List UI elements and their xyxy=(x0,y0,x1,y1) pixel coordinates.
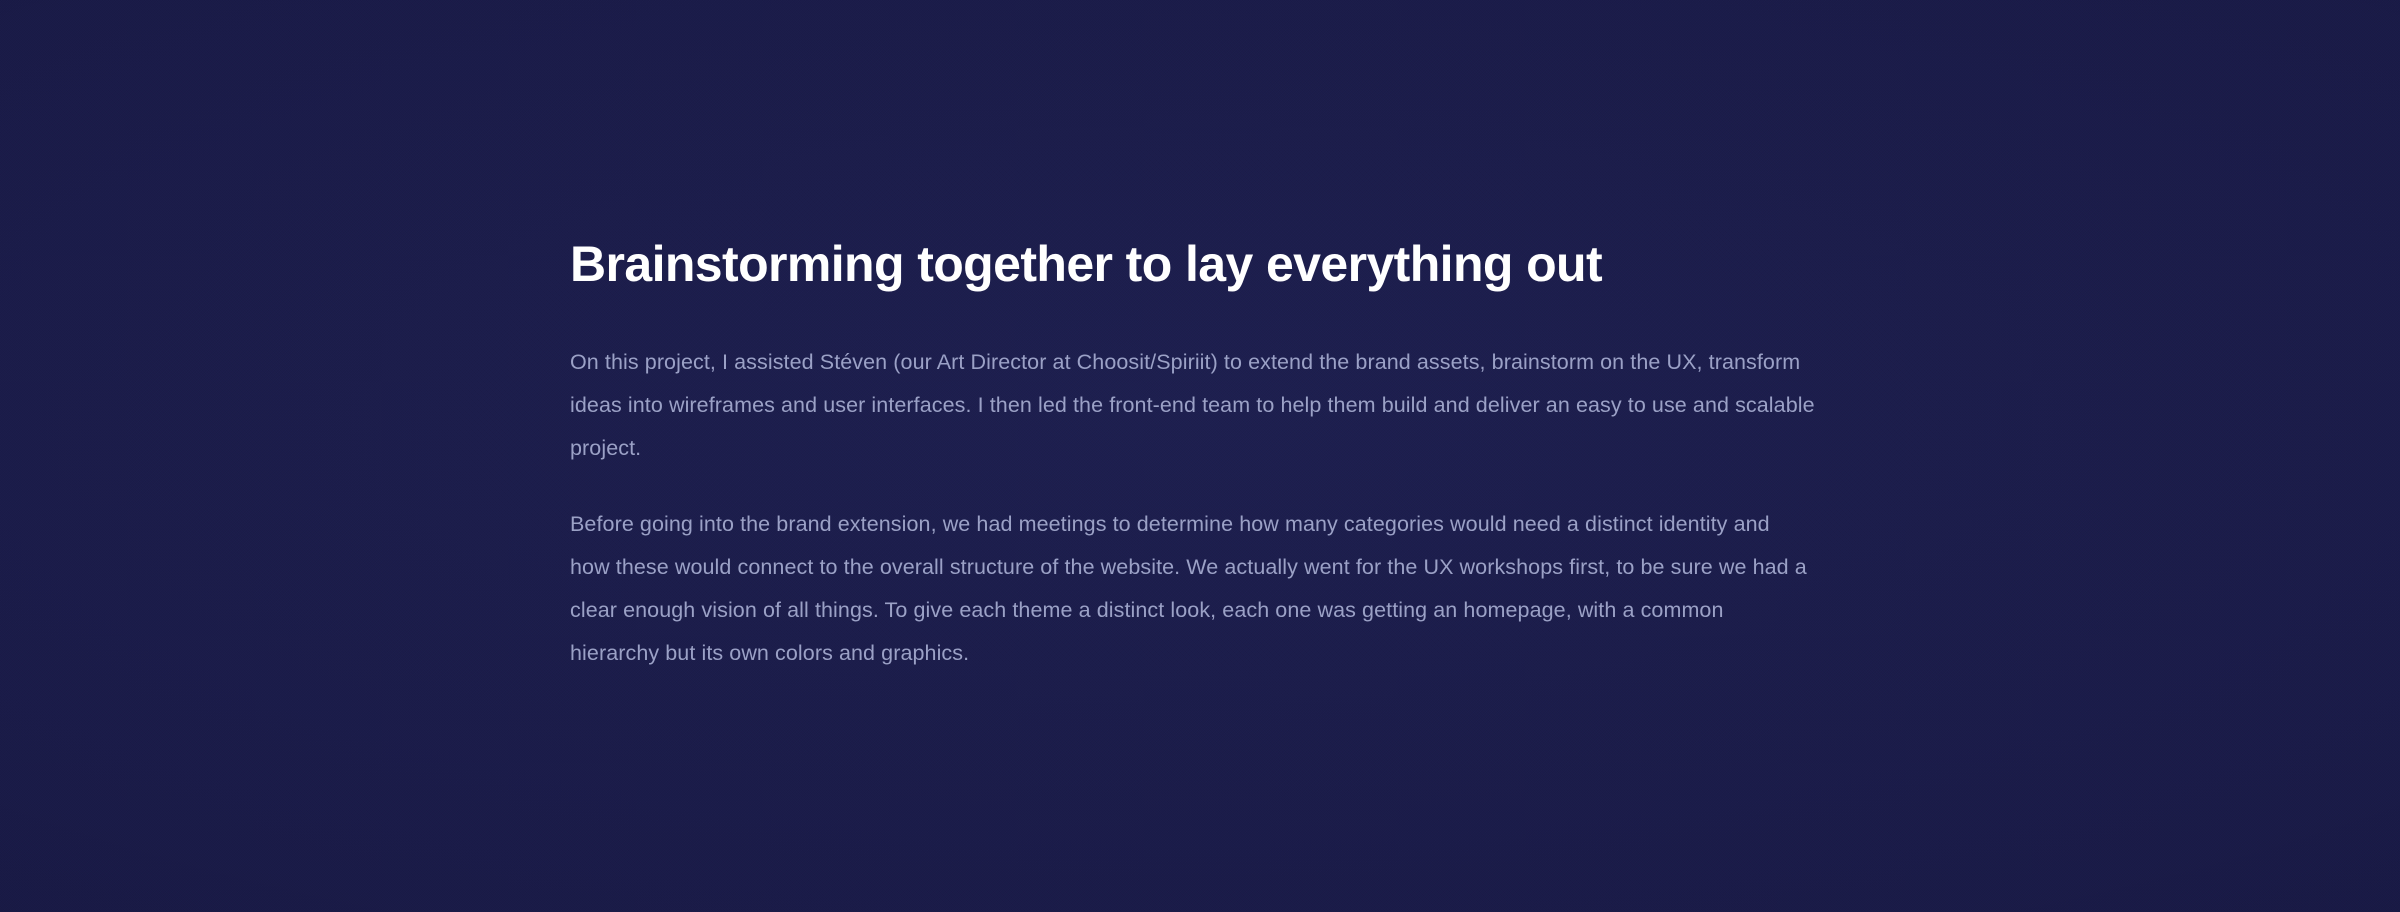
section-heading: Brainstorming together to lay everything… xyxy=(570,236,1820,292)
text-section: Brainstorming together to lay everything… xyxy=(570,236,1820,675)
heading-body-spacer xyxy=(570,292,1820,341)
body-paragraph-2: Before going into the brand extension, w… xyxy=(570,503,1815,675)
page-root: Brainstorming together to lay everything… xyxy=(0,0,2400,912)
body-paragraph-1: On this project, I assisted Stéven (our … xyxy=(570,341,1815,470)
body-copy: On this project, I assisted Stéven (our … xyxy=(570,341,1820,675)
